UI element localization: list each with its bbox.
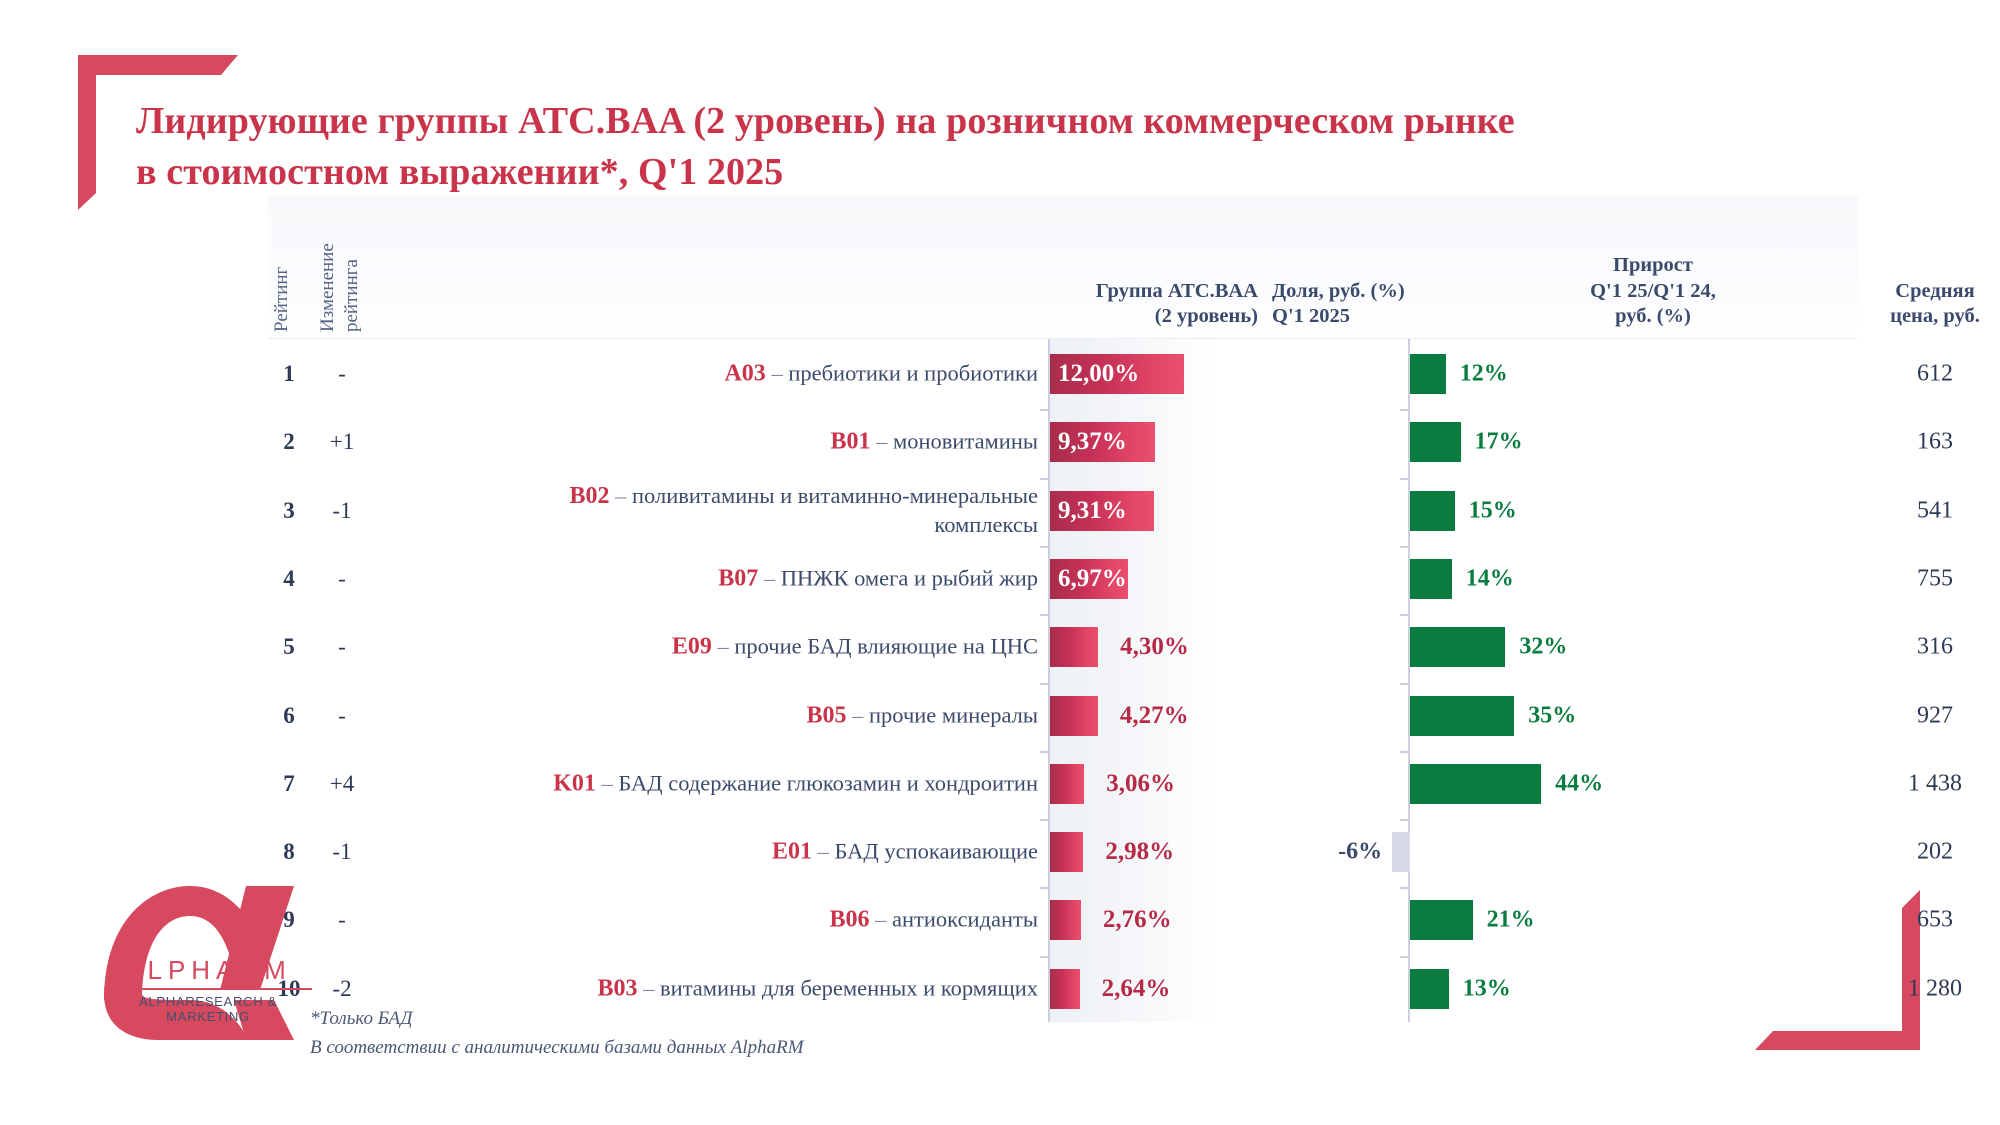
growth-bar xyxy=(1410,559,1452,599)
page-title: Лидирующие группы ATC.BAA (2 уровень) на… xyxy=(136,96,1696,199)
growth-bar xyxy=(1392,832,1410,872)
cell-rank: 6 xyxy=(262,703,316,729)
growth-value-label: 14% xyxy=(1466,565,1514,592)
share-value-label: 2,64% xyxy=(1102,975,1171,1003)
cell-rank-change: -1 xyxy=(314,839,370,865)
column-header-group: Группа ATC.BAA (2 уровень) xyxy=(698,279,1258,330)
cell-rank: 1 xyxy=(262,361,316,387)
separator-dash: – xyxy=(812,839,835,864)
table-row[interactable]: 2+1B01 – моновитамины9,37%17%163 xyxy=(268,409,1858,475)
share-bar xyxy=(1050,832,1083,872)
atc-code: B07 xyxy=(718,566,758,592)
cell-average-price: 927 xyxy=(1820,702,2000,729)
growth-value-label: 44% xyxy=(1555,770,1603,797)
share-bar xyxy=(1050,627,1098,667)
growth-value-label: -6% xyxy=(1316,839,1382,866)
growth-value-label: 15% xyxy=(1469,497,1517,524)
cell-group-name: E09 – прочие БАД влияющие на ЦНС xyxy=(468,632,1038,663)
table-header-row: Рейтинг Изменение рейтинга Группа ATC.BA… xyxy=(268,196,1858,339)
column-header-price-line1: Средняя xyxy=(1820,279,2000,305)
cell-rank-change: -1 xyxy=(314,498,370,524)
share-bar xyxy=(1050,696,1098,736)
group-label: БАД содержание глюкозамин и хондроитин xyxy=(618,770,1038,795)
separator-dash: – xyxy=(758,566,781,591)
cell-rank-change: - xyxy=(314,907,370,933)
growth-bar xyxy=(1410,764,1541,804)
share-axis-tick xyxy=(1040,751,1050,753)
atc-code: B06 xyxy=(830,907,870,933)
growth-value-label: 17% xyxy=(1475,429,1523,456)
atc-code: A03 xyxy=(724,361,765,387)
share-axis-tick xyxy=(1040,819,1050,821)
column-header-share-line2: Q'1 2025 xyxy=(1272,304,1522,330)
share-bar xyxy=(1050,764,1084,804)
cell-rank: 4 xyxy=(262,566,316,592)
share-axis-tick xyxy=(1040,887,1050,889)
share-axis-tick xyxy=(1040,614,1050,616)
column-header-growth-line1: Прирост xyxy=(1498,253,1808,279)
growth-axis-tick xyxy=(1400,887,1410,889)
growth-bar xyxy=(1410,627,1505,667)
table-row[interactable]: 4-B07 – ПНЖК омега и рыбий жир6,97%14%75… xyxy=(268,546,1858,612)
page-title-line2: в стоимостном выражении*, Q'1 2025 xyxy=(136,147,1696,198)
growth-value-label: 13% xyxy=(1463,975,1511,1002)
share-axis-tick xyxy=(1040,478,1050,480)
column-header-share-line1: Доля, руб. (%) xyxy=(1272,279,1522,305)
group-label: поливитамины и витаминно-минеральные ком… xyxy=(632,483,1038,538)
group-label: моновитамины xyxy=(893,429,1038,454)
share-value-label: 2,76% xyxy=(1103,906,1172,934)
group-label: пребиотики и пробиотики xyxy=(788,361,1038,386)
column-header-rank: Рейтинг xyxy=(270,204,294,332)
share-value-label: 3,06% xyxy=(1106,770,1175,798)
growth-bar xyxy=(1410,422,1461,462)
atc-code: B03 xyxy=(598,975,638,1001)
group-label: БАД успокаивающие xyxy=(835,839,1038,864)
share-value-label: 4,27% xyxy=(1120,702,1189,730)
cell-average-price: 1 280 xyxy=(1820,975,2000,1002)
column-header-growth-line2: Q'1 25/Q'1 24, xyxy=(1498,279,1808,305)
cell-average-price: 163 xyxy=(1820,429,2000,456)
column-header-growth-line3: руб. (%) xyxy=(1498,304,1808,330)
cell-rank: 7 xyxy=(262,771,316,797)
growth-value-label: 21% xyxy=(1487,907,1535,934)
growth-bar xyxy=(1410,969,1449,1009)
growth-bar xyxy=(1410,491,1455,531)
share-axis-tick xyxy=(1040,956,1050,958)
atc-code: K01 xyxy=(553,770,596,796)
table-row[interactable]: 9-B06 – антиоксиданты2,76%21%653 xyxy=(268,887,1858,953)
growth-axis-tick xyxy=(1400,819,1410,821)
table-row[interactable]: 3-1B02 – поливитамины и витаминно-минера… xyxy=(268,478,1858,544)
cell-group-name: A03 – пребиотики и пробиотики xyxy=(468,359,1038,390)
atc-code: B05 xyxy=(806,702,846,728)
table-body: 1-A03 – пребиотики и пробиотики12,00%12%… xyxy=(268,339,1858,1022)
growth-value-label: 32% xyxy=(1519,634,1567,661)
group-label: ПНЖК омега и рыбий жир xyxy=(781,566,1038,591)
cell-average-price: 755 xyxy=(1820,565,2000,592)
share-value-label: 4,30% xyxy=(1120,633,1189,661)
logo-wordmark: ALPHARM xyxy=(100,955,316,986)
cell-rank: 8 xyxy=(262,839,316,865)
growth-value-label: 12% xyxy=(1460,361,1508,388)
growth-axis-tick xyxy=(1400,751,1410,753)
column-header-group-line2: (2 уровень) xyxy=(698,304,1258,330)
cell-group-name: B03 – витамины для беременных и кормящих xyxy=(468,973,1038,1004)
cell-group-name: E01 – БАД успокаивающие xyxy=(468,837,1038,868)
cell-rank-change: - xyxy=(314,634,370,660)
table-row[interactable]: 8-1E01 – БАД успокаивающие2,98%-6%202 xyxy=(268,819,1858,885)
column-header-group-line1: Группа ATC.BAA xyxy=(698,279,1258,305)
cell-group-name: B02 – поливитамины и витаминно-минеральн… xyxy=(468,481,1038,541)
atc-code: E01 xyxy=(772,839,812,865)
share-axis-tick xyxy=(1040,546,1050,548)
group-label: прочие минералы xyxy=(869,702,1038,727)
cell-rank-change: - xyxy=(314,703,370,729)
group-label: прочие БАД влияющие на ЦНС xyxy=(734,634,1038,659)
footnotes: *Только БАД В соответствии с аналитическ… xyxy=(310,1005,804,1062)
cell-group-name: B01 – моновитамины xyxy=(468,427,1038,458)
cell-average-price: 202 xyxy=(1820,839,2000,866)
separator-dash: – xyxy=(638,975,661,1000)
table-row[interactable]: 1-A03 – пребиотики и пробиотики12,00%12%… xyxy=(268,341,1858,407)
cell-rank: 3 xyxy=(262,498,316,524)
share-bar xyxy=(1050,900,1081,940)
cell-rank: 5 xyxy=(262,634,316,660)
separator-dash: – xyxy=(610,483,633,508)
separator-dash: – xyxy=(712,634,735,659)
cell-rank-change: +4 xyxy=(314,771,370,797)
cell-average-price: 541 xyxy=(1820,497,2000,524)
cell-rank: 2 xyxy=(262,429,316,455)
group-label: антиоксиданты xyxy=(892,907,1038,932)
cell-rank-change: - xyxy=(314,566,370,592)
growth-axis-tick xyxy=(1400,956,1410,958)
growth-bar xyxy=(1410,696,1514,736)
share-bar xyxy=(1050,969,1080,1009)
growth-bar xyxy=(1410,354,1446,394)
share-value-label: 2,98% xyxy=(1105,838,1174,866)
growth-axis-tick xyxy=(1400,614,1410,616)
logo-divider xyxy=(104,988,312,990)
share-value-label: 12,00% xyxy=(1058,360,1139,388)
logo-tagline: ALPHARESEARCH & MARKETING xyxy=(98,994,318,1024)
share-value-label: 6,97% xyxy=(1058,565,1127,593)
table-row[interactable]: 7+4K01 – БАД содержание глюкозамин и хон… xyxy=(268,751,1858,817)
share-axis-tick xyxy=(1040,683,1050,685)
growth-axis-tick xyxy=(1400,683,1410,685)
table-row[interactable]: 6-B05 – прочие минералы4,27%35%927 xyxy=(268,683,1858,749)
column-header-price: Средняя цена, руб. xyxy=(1820,279,2000,330)
group-label: витамины для беременных и кормящих xyxy=(660,975,1038,1000)
separator-dash: – xyxy=(846,702,869,727)
growth-axis-tick xyxy=(1400,546,1410,548)
share-axis-tick xyxy=(1040,409,1050,411)
cell-group-name: K01 – БАД содержание глюкозамин и хондро… xyxy=(468,768,1038,799)
table-row[interactable]: 5-E09 – прочие БАД влияющие на ЦНС4,30%3… xyxy=(268,614,1858,680)
cell-rank-change: - xyxy=(314,361,370,387)
cell-average-price: 653 xyxy=(1820,907,2000,934)
atc-code: B02 xyxy=(569,483,609,509)
footnote-line2: В соответствии с аналитическими базами д… xyxy=(310,1034,804,1063)
growth-bar xyxy=(1410,900,1473,940)
growth-value-label: 35% xyxy=(1528,702,1576,729)
cell-rank-change: +1 xyxy=(314,429,370,455)
separator-dash: – xyxy=(766,361,789,386)
separator-dash: – xyxy=(596,770,619,795)
leaders-table: Рейтинг Изменение рейтинга Группа ATC.BA… xyxy=(268,196,1858,1021)
share-value-label: 9,37% xyxy=(1058,428,1127,456)
cell-group-name: B05 – прочие минералы xyxy=(468,700,1038,731)
share-value-label: 9,31% xyxy=(1058,497,1127,525)
separator-dash: – xyxy=(870,907,893,932)
column-header-price-line2: цена, руб. xyxy=(1820,304,2000,330)
growth-axis-tick xyxy=(1400,478,1410,480)
separator-dash: – xyxy=(871,429,894,454)
cell-group-name: B06 – антиоксиданты xyxy=(468,905,1038,936)
column-header-rank-change: Изменение рейтинга xyxy=(316,204,364,332)
page-title-line1: Лидирующие группы ATC.BAA (2 уровень) на… xyxy=(136,96,1696,147)
atc-code: E09 xyxy=(672,634,712,660)
column-header-growth: Прирост Q'1 25/Q'1 24, руб. (%) xyxy=(1498,253,1808,330)
cell-average-price: 612 xyxy=(1820,361,2000,388)
cell-average-price: 1 438 xyxy=(1820,770,2000,797)
cell-group-name: B07 – ПНЖК омега и рыбий жир xyxy=(468,564,1038,595)
growth-axis-tick xyxy=(1400,409,1410,411)
footnote-line1: *Только БАД xyxy=(310,1005,804,1034)
column-header-share: Доля, руб. (%) Q'1 2025 xyxy=(1272,279,1522,330)
cell-average-price: 316 xyxy=(1820,634,2000,661)
cell-rank-change: -2 xyxy=(314,976,370,1002)
atc-code: B01 xyxy=(831,429,871,455)
